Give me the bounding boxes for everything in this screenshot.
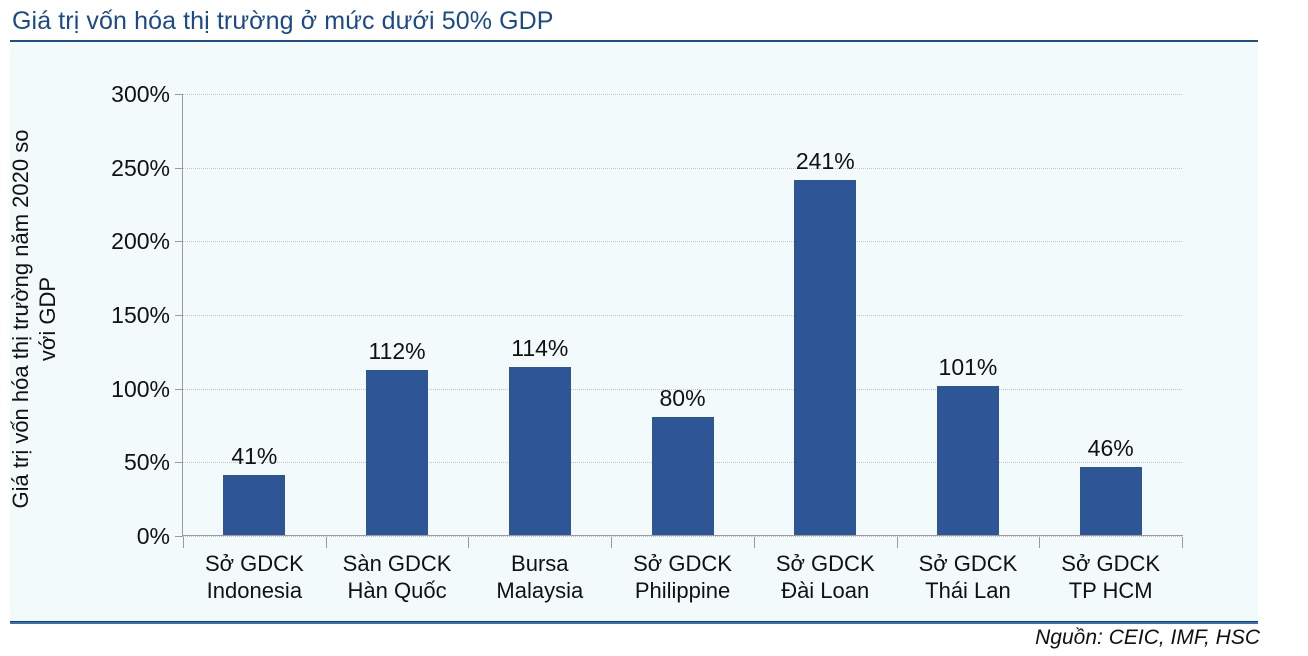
bar-cell: 46% (1039, 93, 1182, 535)
category-separator (1182, 537, 1183, 548)
page-title: Giá trị vốn hóa thị trường ở mức dưới 50… (12, 6, 554, 36)
bar[interactable]: 112% (366, 370, 428, 535)
y-axis-tick-label: 150% (60, 304, 170, 327)
bar-cell: 241% (754, 93, 897, 535)
y-axis-tick-mark (175, 389, 182, 390)
category-separator (1039, 537, 1040, 548)
bar-value-label: 112% (369, 340, 426, 363)
x-axis-category-label: Bursa Malaysia (468, 550, 611, 604)
bar-cell: 80% (611, 93, 754, 535)
x-axis-category-label: Sở GDCK Philippine (611, 550, 754, 604)
bar-value-label: 46% (1088, 437, 1134, 460)
x-axis-category-label: Sở GDCK Thái Lan (897, 550, 1040, 604)
chart-area: Giá trị vốn hóa thị trường năm 2020 so v… (10, 42, 1258, 621)
y-axis-tick-label: 0% (60, 525, 170, 548)
title-block: Giá trị vốn hóa thị trường ở mức dưới 50… (0, 0, 1308, 44)
bar[interactable]: 80% (652, 417, 714, 535)
bar[interactable]: 241% (794, 180, 856, 535)
chart-bottom-divider (10, 621, 1258, 624)
chart-page: Giá trị vốn hóa thị trường ở mức dưới 50… (0, 0, 1308, 656)
y-axis-tick-label: 300% (60, 83, 170, 106)
y-axis-tick-mark (175, 94, 182, 95)
y-axis-tick-label: 250% (60, 157, 170, 180)
y-axis-tick-mark (175, 536, 182, 537)
x-axis-category-label: Sở GDCK Indonesia (183, 550, 326, 604)
bar[interactable]: 46% (1080, 467, 1142, 535)
x-axis-category-label: Sở GDCK Đài Loan (754, 550, 897, 604)
y-axis-title: Giá trị vốn hóa thị trường năm 2020 so v… (7, 59, 61, 579)
bar-cell: 114% (468, 93, 611, 535)
source-note: Nguồn: CEIC, IMF, HSC (1035, 626, 1260, 650)
y-axis-tick-mark (175, 168, 182, 169)
bar[interactable]: 41% (223, 475, 285, 535)
bar-cell: 41% (183, 93, 326, 535)
category-separator (754, 537, 755, 548)
x-axis-category-label: Sở GDCK TP HCM (1039, 550, 1182, 604)
category-separators (183, 537, 1182, 548)
bar-value-label: 41% (231, 445, 277, 468)
bar-cell: 101% (897, 93, 1040, 535)
bar-value-label: 101% (939, 356, 998, 379)
y-axis-tick-mark (175, 462, 182, 463)
bar-cell: 112% (326, 93, 469, 535)
bar-value-label: 241% (796, 150, 855, 173)
bar[interactable]: 101% (937, 386, 999, 535)
bar[interactable]: 114% (509, 367, 571, 535)
category-separator (468, 537, 469, 548)
category-separator (897, 537, 898, 548)
y-axis-tick-mark (175, 241, 182, 242)
y-axis-tick-label: 200% (60, 230, 170, 253)
x-axis-category-label: Sàn GDCK Hàn Quốc (326, 550, 469, 604)
y-axis-tick-label: 100% (60, 378, 170, 401)
category-separator (326, 537, 327, 548)
plot-area: 300%250%200%150%100%50%0% 41%112%114%80%… (182, 94, 1182, 536)
category-separator (611, 537, 612, 548)
bar-series: 41%112%114%80%241%101%46% (183, 93, 1182, 535)
category-separator (183, 537, 184, 548)
y-axis-tick-label: 50% (60, 451, 170, 474)
x-axis-category-labels: Sở GDCK IndonesiaSàn GDCK Hàn QuốcBursa … (183, 550, 1182, 604)
bar-value-label: 114% (511, 337, 568, 360)
bar-value-label: 80% (659, 387, 705, 410)
y-axis-tick-mark (175, 315, 182, 316)
